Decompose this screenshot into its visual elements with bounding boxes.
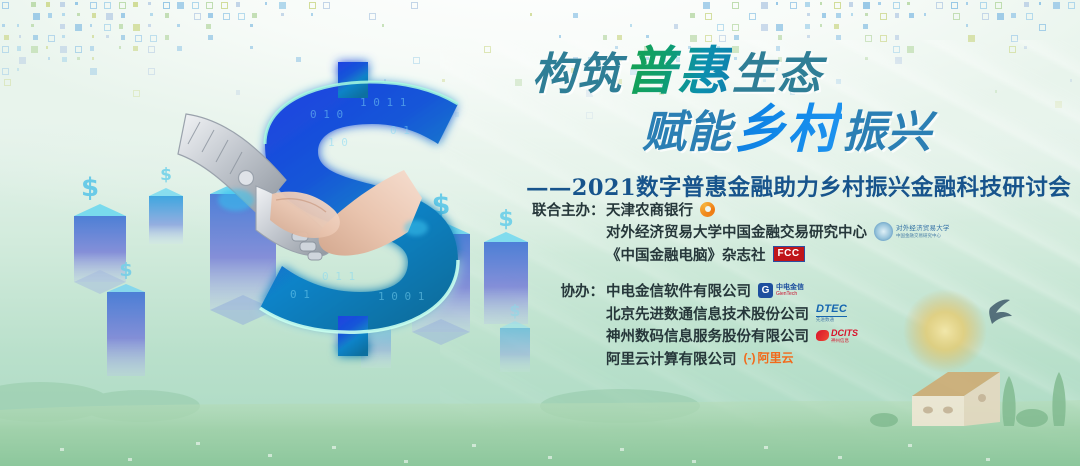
pattern-square [790,2,797,9]
farmhouse [912,372,1000,426]
dollar-handshake-artwork: $ $ $ $ [60,48,530,420]
svg-text:1 0 0 1: 1 0 0 1 [378,290,424,303]
pattern-square [106,13,113,20]
pattern-square [719,35,726,42]
pattern-square [878,2,881,5]
pattern-square [836,35,841,40]
pattern-square [31,46,38,53]
pattern-square [75,2,78,5]
svg-text:0 1: 0 1 [290,288,310,301]
pattern-square [895,35,900,40]
pattern-square [194,13,201,20]
pattern-square [1024,2,1029,7]
pattern-square [703,2,710,9]
title-seg-xiangcun: 乡村 [732,100,842,160]
pattern-square [48,35,55,42]
pattern-square [19,57,26,64]
pattern-square [165,35,170,40]
pattern-square [163,2,170,9]
pattern-square [4,35,9,40]
gientech-mark: G [758,283,773,298]
pattern-square [776,24,783,31]
title-seg-puhui: 普惠 [622,42,732,102]
pattern-square [92,35,95,38]
pattern-square [966,24,969,27]
pattern-square [834,24,839,29]
title-seg-gouzhu: 构筑 [532,49,622,100]
pattern-square [1039,24,1046,31]
pattern-square [177,24,180,27]
pattern-square [820,2,823,5]
pattern-square [734,35,739,40]
pattern-square [778,35,783,40]
pattern-square [822,13,827,18]
pattern-square [705,35,712,42]
pattern-square [1039,2,1042,5]
pattern-square [951,2,958,9]
glow-blob [218,189,254,211]
organizer-row-3: 《中国金融电脑》杂志社 FCC [532,243,1080,266]
coin-stack: $ [484,207,528,324]
pattern-square [223,13,230,20]
cosponsor-row-3: 神州数码信息服务股份有限公司 DCITS 神州信息 [532,325,1080,348]
dtec-logo-main: DTEC [816,304,847,315]
pattern-square [2,24,5,27]
cosponsor-label: 协办： [532,280,604,301]
dcits-logo: DCITS 神州信息 [816,329,858,344]
svg-text:1 0: 1 0 [328,136,348,149]
pattern-square [761,24,768,31]
fcc-logo: FCC [773,246,805,262]
pattern-square [238,13,245,20]
dcits-logo-sub: 神州信息 [831,339,858,344]
pattern-square [411,2,418,9]
pattern-square [106,35,109,38]
pattern-square [121,35,126,40]
pattern-square [60,2,65,7]
svg-text:$: $ [509,301,520,320]
pattern-square [732,2,739,9]
pattern-square [807,13,810,16]
pattern-square [1053,2,1060,9]
pattern-square [834,2,841,9]
pattern-square [17,68,20,71]
pattern-square [909,13,914,18]
credits-block: 联合主办： 天津农商银行 对外经济贸易大学中国金融交易研究中心 对外经济贸易大学… [532,198,1080,370]
pattern-square [309,2,316,9]
cosponsor-row-4: 阿里云计算有限公司 (-) 阿里云 [532,347,1080,370]
pattern-square [252,13,257,18]
pattern-square [865,35,872,42]
pattern-square [705,13,712,20]
pattern-square [90,24,93,27]
pattern-square [690,13,695,18]
pattern-square [104,24,111,31]
spiral-logo [700,202,715,217]
pattern-square [150,35,157,42]
pattern-square [2,46,9,53]
cosponsor-name-3: 神州数码信息服务股份有限公司 [606,325,809,346]
organizer-name-3: 《中国金融电脑》杂志社 [606,244,766,265]
pattern-square [732,24,739,31]
pattern-square [761,2,768,9]
pattern-square [717,24,724,31]
pattern-square [33,35,38,40]
pattern-square [617,35,622,40]
cosponsor-row-2: 北京先进数通信息技术股份公司 DTEC 先进数通 [532,302,1080,325]
pattern-square [674,24,679,29]
pattern-square [849,2,854,7]
pattern-square [17,46,22,51]
pattern-square [690,35,697,42]
pattern-square [165,13,170,18]
pattern-square [119,2,126,9]
title-seg-funeng: 赋能 [642,107,732,158]
dcits-mark [816,330,829,341]
pattern-square [90,2,97,9]
pattern-square [749,13,756,20]
pattern-square [924,13,927,16]
pattern-square [880,35,887,42]
pattern-square [807,35,810,38]
svg-text:$: $ [81,173,99,203]
title-seg-zhenxing: 振兴 [842,107,932,158]
pattern-square [150,13,153,16]
pattern-square [33,13,40,20]
pattern-square [279,2,286,9]
organizer-row-2: 对外经济贸易大学中国金融交易研究中心 对外经济贸易大学 中国金融交易研究中心 [532,221,1080,244]
organizer-row-1: 联合主办： 天津农商银行 [532,198,1080,221]
pattern-square [865,13,868,16]
aliyun-logo: (-) 阿里云 [744,352,794,364]
pattern-square [851,13,854,16]
pattern-square [980,2,987,9]
cosponsor-name-4: 阿里云计算有限公司 [606,348,737,369]
pattern-square [1011,35,1018,42]
conference-banner: $ $ $ $ [0,0,1080,466]
pattern-square [119,24,124,29]
pattern-square [221,2,228,9]
pattern-square [646,35,649,38]
pattern-square [820,24,823,27]
artwork-svg: $ $ $ $ [60,48,530,420]
pattern-square [265,2,268,5]
pattern-square [863,2,870,9]
uibe-seal-icon [874,222,893,241]
title-line-2: 赋能乡村振兴 [520,104,1080,156]
aliyun-bracket: (-) [744,352,756,364]
gientech-logo-sub: GienTech [776,292,804,297]
pattern-square [880,13,887,20]
uibe-seal-logo: 对外经济贸易大学 中国金融交易研究中心 [874,222,950,241]
pattern-square [250,24,253,27]
headline-block: 构筑普惠生态 赋能乡村振兴 ——2021数字普惠金融助力乡村振兴金融科技研讨会 [520,46,1080,202]
pattern-square [630,24,633,27]
pattern-square [75,24,82,31]
pattern-square [995,2,1002,9]
organizer-name-1: 天津农商银行 [606,199,693,220]
pattern-square [135,35,142,42]
pattern-square [776,2,779,5]
pattern-square [208,35,213,40]
pattern-square [382,24,385,27]
glow-blob [404,220,428,236]
cypress-trees [870,372,1066,427]
cosponsor-row-1: 协办： 中电金信软件有限公司 G 中电金信 GienTech [532,280,1080,303]
pattern-square [895,13,900,18]
pattern-square [323,2,330,9]
svg-text:0 1: 0 1 [390,124,410,137]
pattern-square [968,35,975,42]
pattern-square [92,13,97,18]
title-seg-shengtai: 生态 [732,49,822,100]
pattern-square [121,13,126,18]
pattern-square [4,79,11,86]
pattern-square [206,2,213,9]
pattern-square [893,2,900,9]
gientech-logo-main: 中电金信 [776,284,804,291]
pattern-square [1068,2,1075,9]
pattern-square [206,24,211,29]
dtec-logo-sub: 先进数通 [816,316,847,323]
pattern-square [60,24,65,29]
pattern-square [1026,13,1033,20]
pattern-square [148,24,151,27]
cosponsor-name-2: 北京先进数通信息技术股份公司 [606,303,809,324]
pattern-square [48,57,51,60]
pattern-square [2,2,9,9]
pattern-square [1011,13,1016,18]
field-sparkles [60,442,990,463]
pattern-square [953,13,960,20]
pattern-square [966,2,969,5]
pattern-square [997,13,1004,20]
organizer-name-2: 对外经济贸易大学中国金融交易研究中心 [606,221,867,242]
svg-text:0 1 1: 0 1 1 [322,270,355,283]
coin-stack: $ [74,173,126,294]
pattern-square [559,35,562,38]
dcits-logo-main: DCITS [831,329,858,338]
pattern-square [2,68,9,75]
pattern-square [281,13,284,16]
pattern-square [77,13,80,16]
pattern-square [530,13,533,16]
svg-text:0 1 0: 0 1 0 [310,108,343,121]
pattern-square [62,35,65,38]
pattern-square [46,46,49,49]
svg-text:$: $ [160,165,172,185]
pattern-square [133,24,140,31]
pattern-square [236,2,241,7]
uibe-logo-sub: 中国金融交易研究中心 [896,234,950,239]
pattern-square [982,13,989,20]
pattern-square [603,35,608,40]
svg-text:$: $ [498,207,513,232]
pattern-square [907,2,910,5]
pattern-square [31,2,36,7]
pattern-square [31,24,34,27]
pattern-square [19,35,22,38]
gientech-logo: G 中电金信 GienTech [758,283,804,298]
svg-text:$: $ [119,259,132,281]
pattern-square [104,2,111,9]
pattern-square [805,2,810,7]
pattern-square [17,24,20,27]
organizer-label: 联合主办： [532,199,604,220]
svg-text:1 0 1 1: 1 0 1 1 [360,96,406,109]
pattern-square [148,2,151,5]
pattern-square [192,2,199,9]
pattern-square [863,24,868,29]
fcc-logo-text: FCC [773,246,805,262]
pattern-square [805,24,810,29]
pattern-square [836,13,841,18]
pattern-square [62,13,65,16]
cosponsor-name-1: 中电金信软件有限公司 [606,280,751,301]
pattern-square [573,13,578,18]
pattern-square [46,2,51,7]
pattern-square [936,2,943,9]
pattern-square [311,13,314,16]
dtec-logo: DTEC 先进数通 [816,304,847,323]
title-line-1: 构筑普惠生态 [520,46,1080,98]
uibe-logo-main: 对外经济贸易大学 [896,226,950,233]
pattern-square [48,13,53,18]
pattern-square [177,2,184,9]
pattern-square [369,13,376,20]
pattern-square [208,13,213,18]
coin-stack: $ [149,165,183,244]
pattern-square [133,2,138,7]
aliyun-logo-main: 阿里云 [758,352,794,364]
